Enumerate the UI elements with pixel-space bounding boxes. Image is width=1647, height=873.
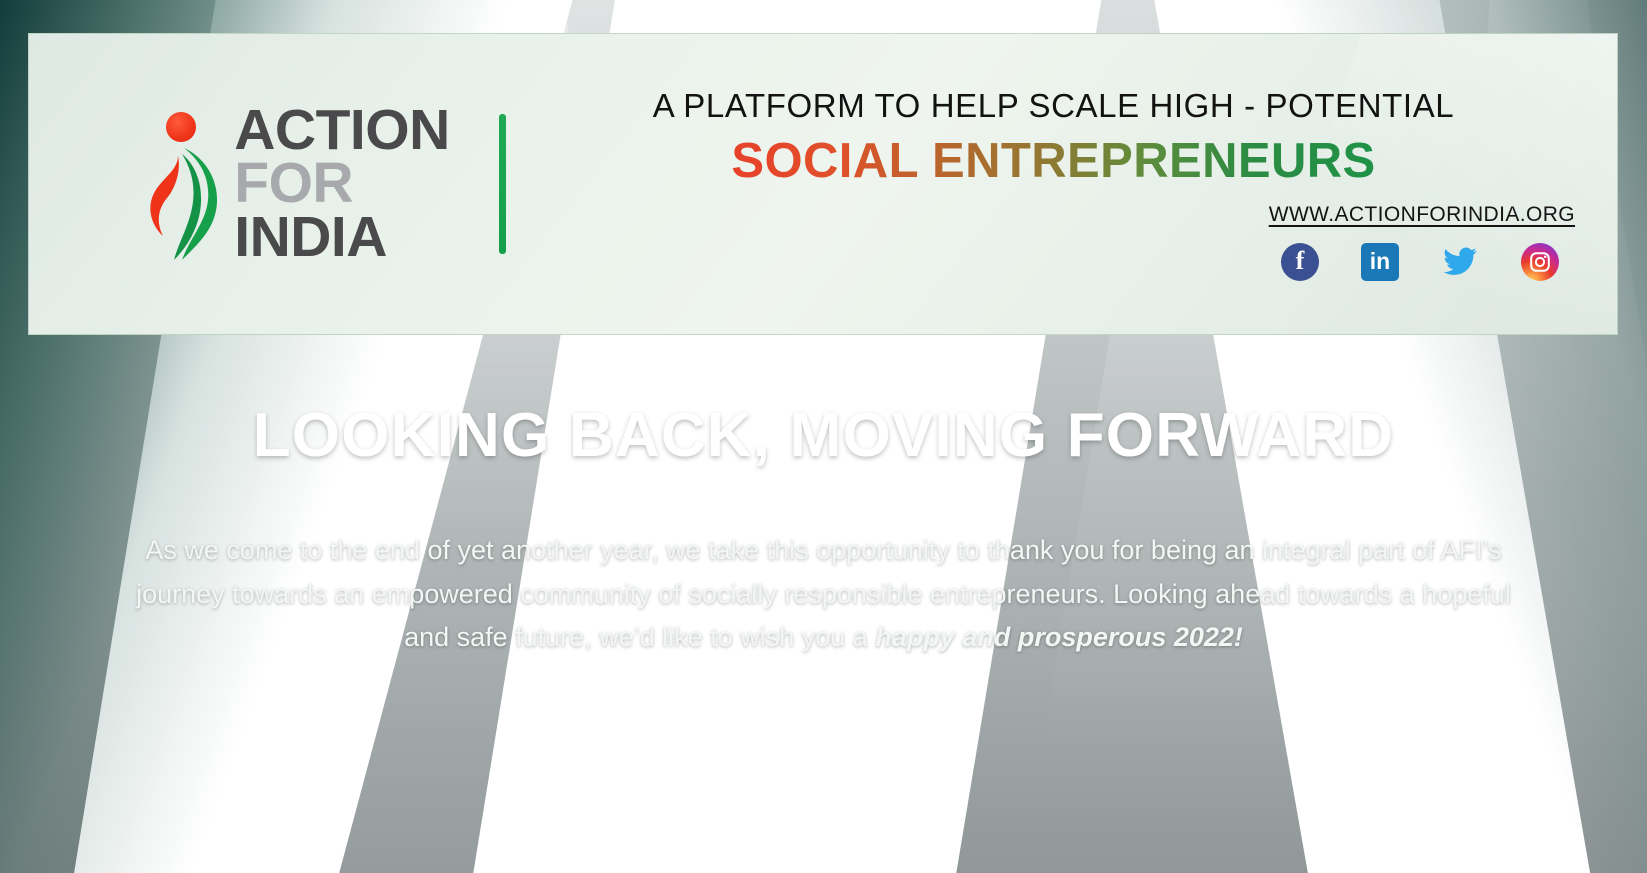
linkedin-icon[interactable]: in: [1361, 243, 1399, 281]
facebook-glyph: f: [1296, 248, 1305, 274]
logo-word-india: INDIA: [234, 211, 449, 265]
page-title: LOOKING BACK, MOVING FORWARD: [70, 400, 1577, 471]
brand-logo[interactable]: ACTION FOR INDIA: [29, 34, 499, 334]
logo-flame-green-icon: [174, 148, 218, 262]
instagram-camera-glyph: [1528, 250, 1552, 274]
logo-wordmark: ACTION FOR INDIA: [234, 104, 449, 265]
social-links-row: f in: [1281, 243, 1559, 281]
logo-dot-icon: [166, 112, 196, 142]
header-card: ACTION FOR INDIA A PLATFORM TO HELP SCAL…: [28, 33, 1618, 335]
twitter-icon[interactable]: [1441, 243, 1479, 281]
action-for-india-logo-icon: [148, 104, 220, 264]
website-link[interactable]: WWW.ACTIONFORINDIA.ORG: [1269, 203, 1575, 227]
tagline-line-2: SOCIAL ENTREPRENEURS: [731, 133, 1375, 189]
body-paragraph: As we come to the end of yet another yea…: [124, 529, 1524, 660]
facebook-icon[interactable]: f: [1281, 243, 1319, 281]
linkedin-glyph: in: [1370, 250, 1390, 273]
logo-word-action: ACTION: [234, 104, 449, 158]
tagline-block: A PLATFORM TO HELP SCALE HIGH - POTENTIA…: [506, 34, 1617, 334]
body-paragraph-emphasis: happy and prosperous 2022!: [875, 622, 1243, 652]
header-divider: [499, 114, 506, 254]
twitter-bird-glyph: [1442, 244, 1478, 280]
tagline-line-1: A PLATFORM TO HELP SCALE HIGH - POTENTIA…: [653, 87, 1455, 125]
poster-canvas: ACTION FOR INDIA A PLATFORM TO HELP SCAL…: [0, 0, 1647, 873]
logo-word-for: FOR: [234, 157, 449, 211]
main-content: LOOKING BACK, MOVING FORWARD As we come …: [0, 400, 1647, 660]
instagram-icon[interactable]: [1521, 243, 1559, 281]
body-paragraph-text: As we come to the end of yet another yea…: [136, 535, 1511, 652]
